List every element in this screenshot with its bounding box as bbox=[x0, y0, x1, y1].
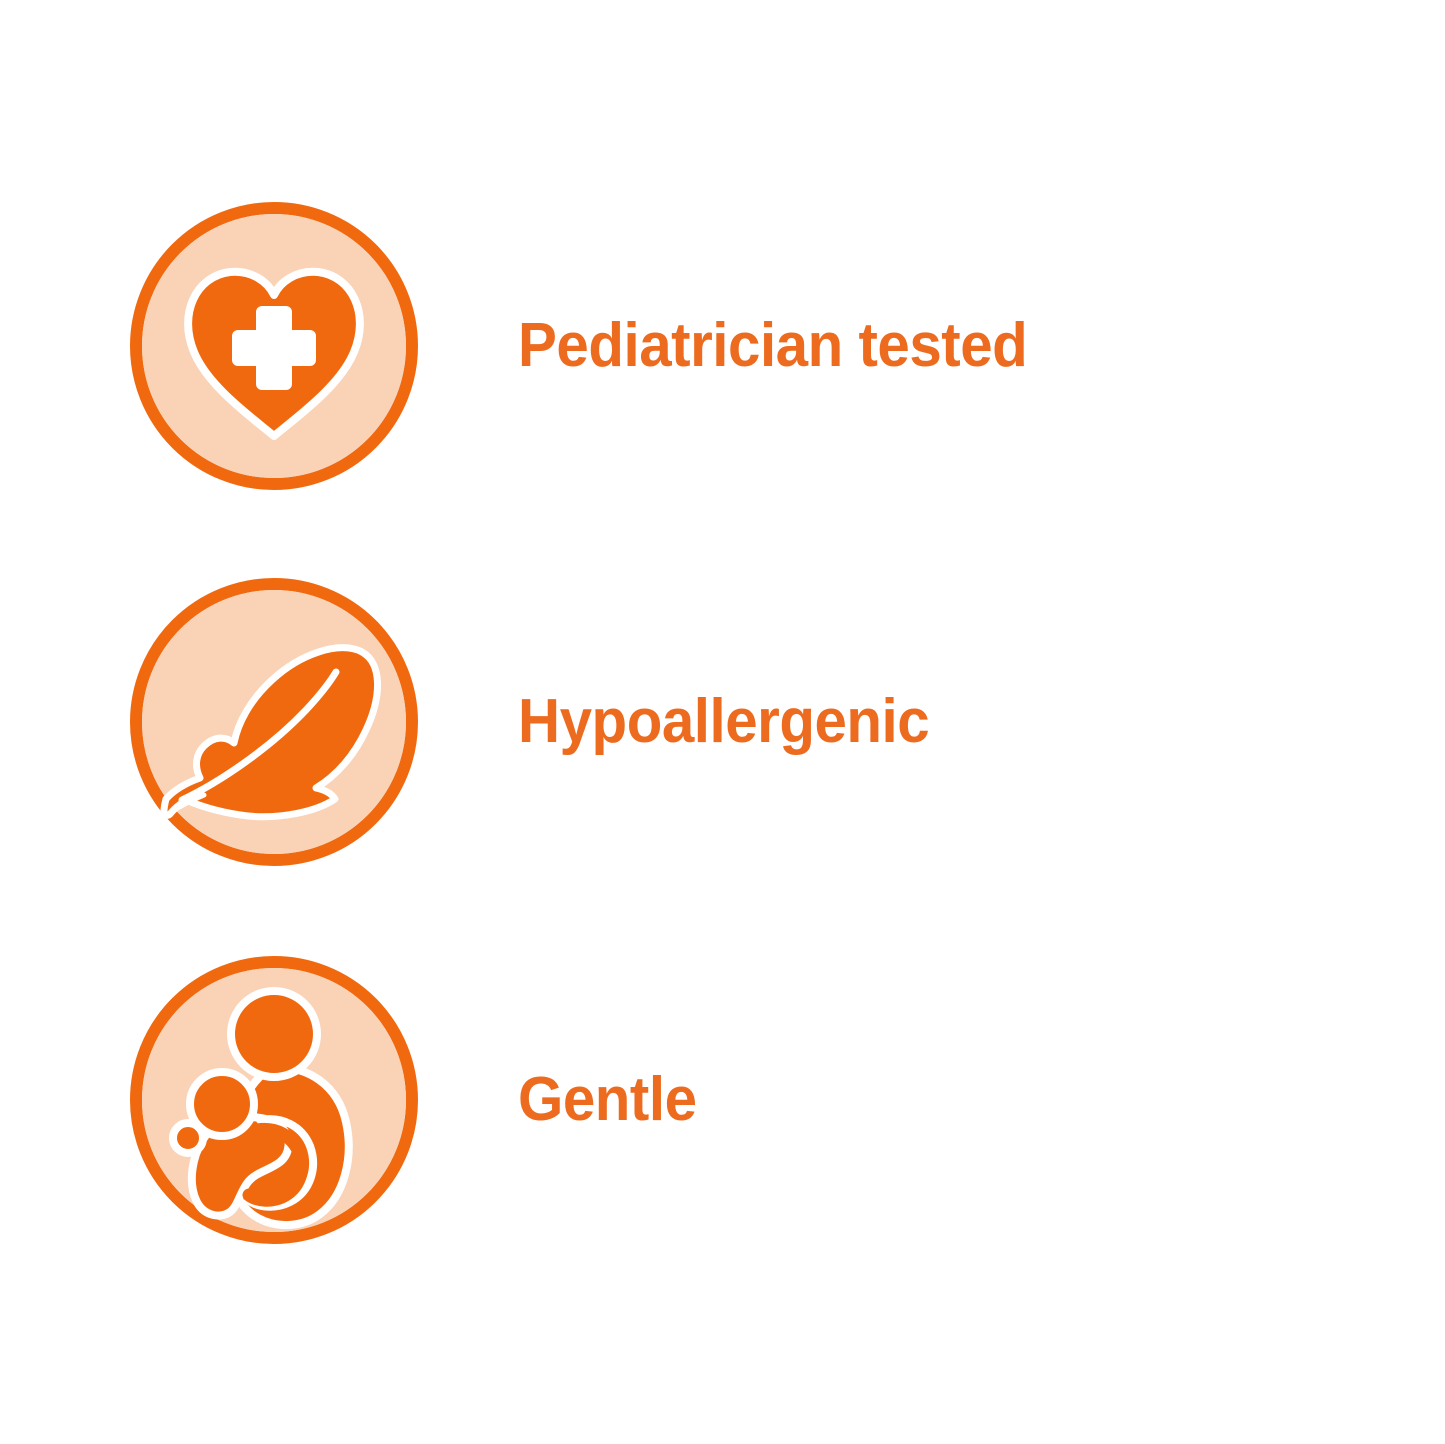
mother-and-baby-icon bbox=[130, 956, 418, 1244]
benefits-panel: Pediatrician tested Hypoallergenic bbox=[0, 0, 1445, 1444]
benefit-row: Hypoallergenic bbox=[130, 577, 955, 867]
feather-icon bbox=[130, 578, 418, 866]
benefit-label-pediatrician-tested: Pediatrician tested bbox=[518, 315, 1027, 377]
benefit-badge-pediatrician-tested bbox=[130, 202, 418, 490]
benefit-badge-hypoallergenic bbox=[130, 578, 418, 866]
heart-cross-icon bbox=[130, 202, 418, 490]
benefit-label-hypoallergenic: Hypoallergenic bbox=[518, 691, 929, 753]
benefit-label-gentle: Gentle bbox=[518, 1069, 697, 1131]
benefit-row: Pediatrician tested bbox=[130, 201, 1060, 491]
benefit-badge-gentle bbox=[130, 956, 418, 1244]
benefit-row: Gentle bbox=[130, 955, 708, 1245]
